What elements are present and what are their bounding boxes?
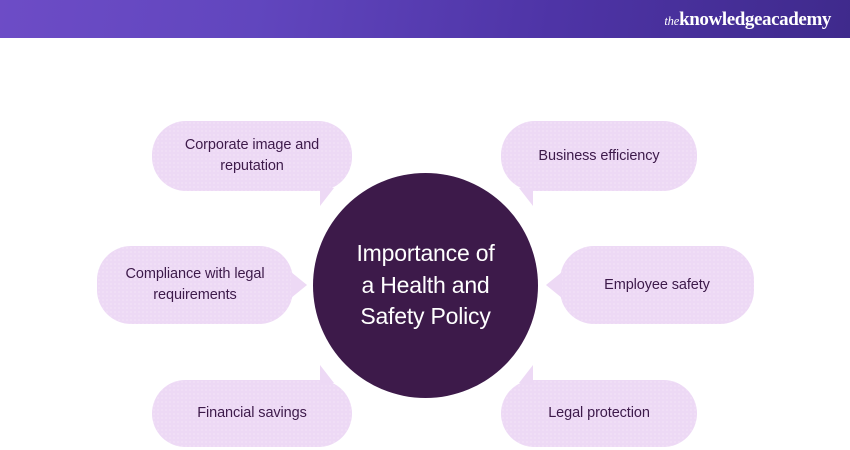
bubble-tail-icon	[513, 188, 533, 206]
node-label: Legal protection	[548, 403, 650, 424]
node-label: Compliance with legal requirements	[115, 264, 275, 305]
node-label: Employee safety	[604, 275, 710, 296]
node-label: Business efficiency	[538, 146, 659, 167]
bubble-tail-icon	[320, 188, 340, 206]
diagram-node-corporate-image-and-reputation: Corporate image and reputation	[152, 121, 352, 191]
center-title-line-2: a Health and	[361, 272, 489, 298]
bubble-tail-icon	[546, 272, 562, 298]
center-title-line-3: Safety Policy	[360, 303, 490, 329]
diagram-center-title: Importance of a Health and Safety Policy	[340, 238, 510, 333]
diagram-node-employee-safety: Employee safety	[560, 246, 754, 324]
diagram-canvas: Importance of a Health and Safety Policy…	[0, 38, 850, 450]
bubble-tail-icon	[513, 365, 533, 383]
center-title-line-1: Importance of	[356, 240, 494, 266]
diagram-center-node: Importance of a Health and Safety Policy	[313, 173, 538, 398]
node-label: Financial savings	[197, 403, 307, 424]
brand-logo-name: knowledgeacademy	[679, 10, 831, 29]
brand-logo-prefix: the	[664, 15, 679, 28]
bubble-tail-icon	[291, 272, 307, 298]
bubble-tail-icon	[320, 365, 340, 383]
brand-logo: theknowledgeacademy	[664, 10, 831, 29]
diagram-node-compliance-with-legal-requirements: Compliance with legal requirements	[97, 246, 293, 324]
diagram-node-legal-protection: Legal protection	[501, 380, 697, 447]
page-header: theknowledgeacademy	[0, 0, 850, 38]
diagram-node-business-efficiency: Business efficiency	[501, 121, 697, 191]
node-label: Corporate image and reputation	[170, 135, 334, 176]
diagram-node-financial-savings: Financial savings	[152, 380, 352, 447]
